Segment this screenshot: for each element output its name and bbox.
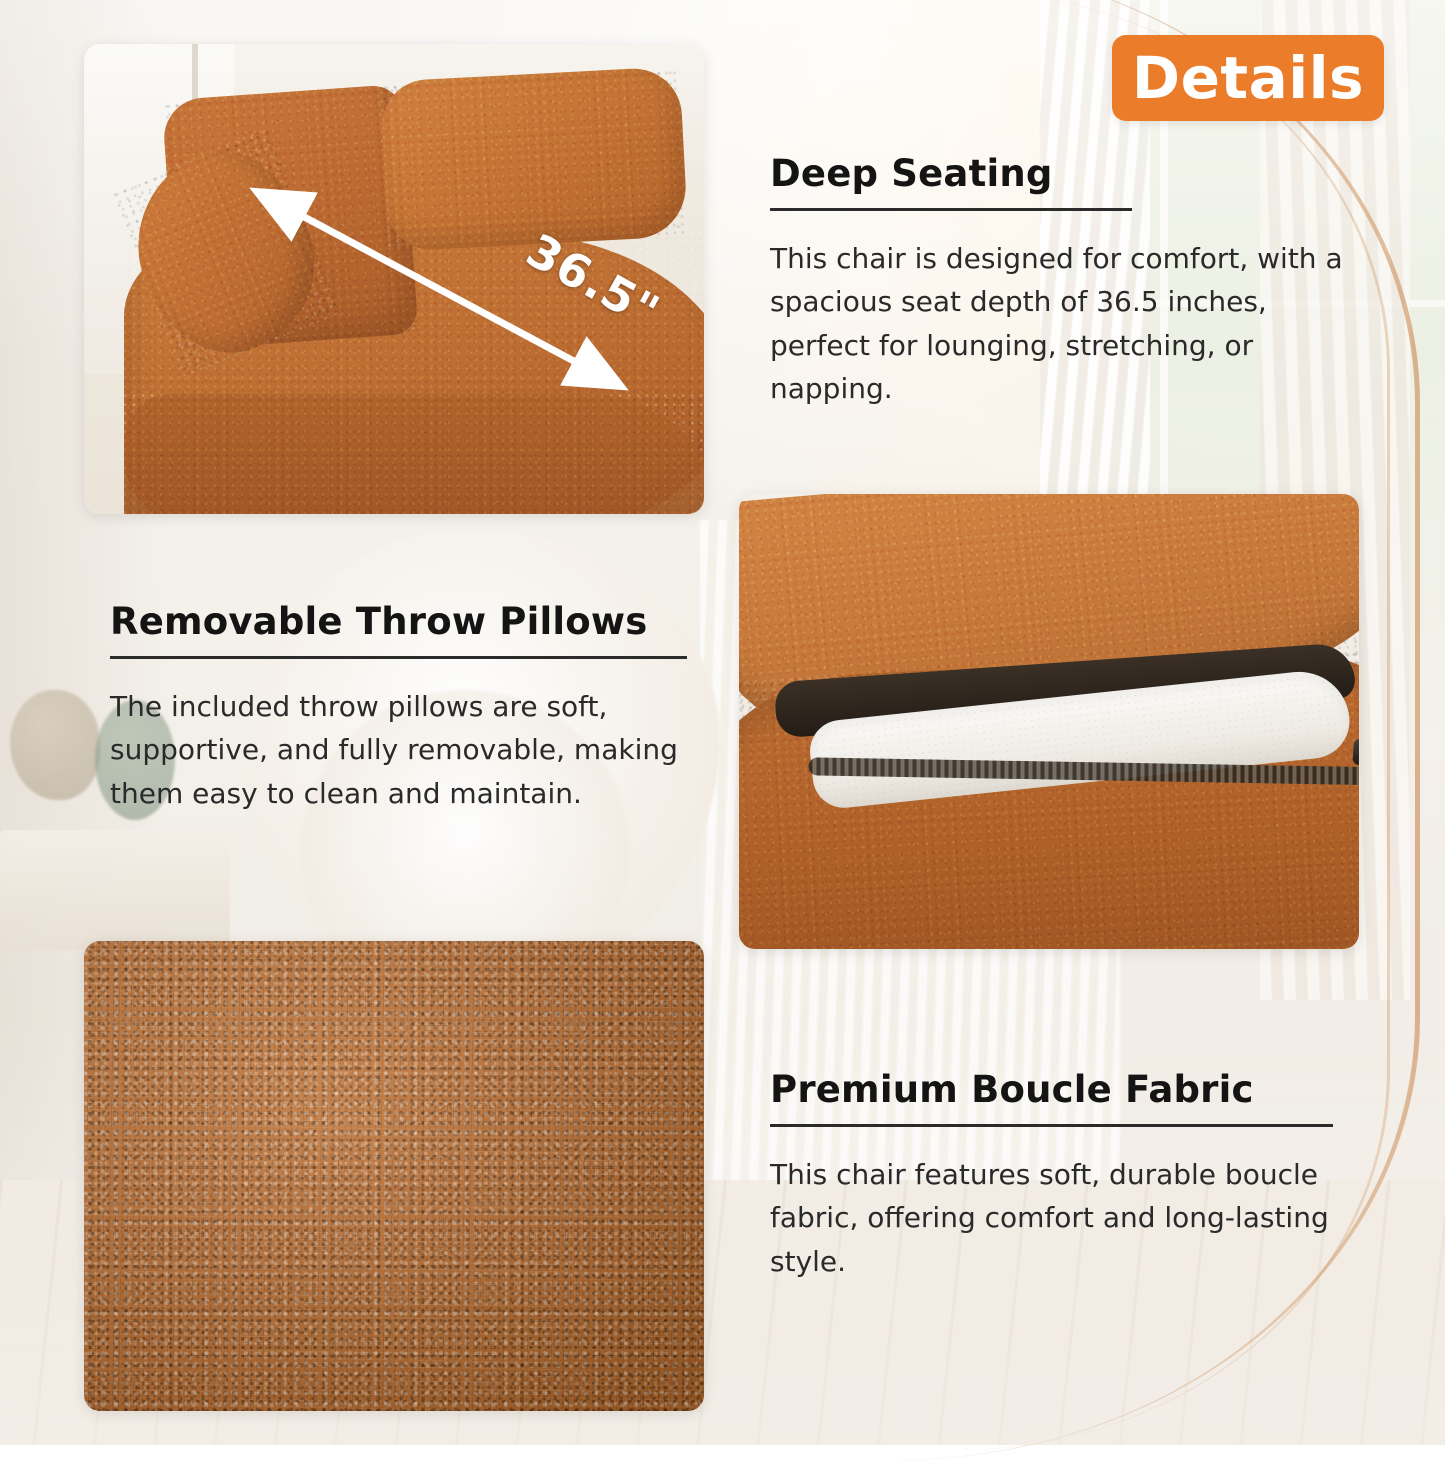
boucle-texture	[124, 394, 704, 514]
section-removable-throw-pillows: Removable Throw Pillows The included thr…	[110, 600, 710, 815]
section-title-premium-boucle-fabric: Premium Boucle Fabric	[770, 1068, 1348, 1111]
section-premium-boucle-fabric: Premium Boucle Fabric This chair feature…	[770, 1068, 1348, 1283]
section-title-removable-throw-pillows: Removable Throw Pillows	[110, 600, 710, 643]
section-title-deep-seating: Deep Seating	[770, 152, 1360, 195]
zipper-photo	[739, 494, 1359, 949]
image-card-zipper	[739, 494, 1359, 949]
section-body-premium-boucle-fabric: This chair features soft, durable boucle…	[770, 1153, 1348, 1283]
title-underline	[110, 656, 687, 659]
boucle-texture	[380, 66, 688, 251]
chair-seat-front-edge	[124, 394, 704, 514]
image-card-fabric	[84, 941, 704, 1411]
image-card-deep-seating: 36.5"	[84, 44, 704, 514]
background-decor-object	[10, 690, 100, 800]
title-underline	[770, 208, 1132, 211]
fabric-photo	[84, 941, 704, 1411]
section-body-removable-throw-pillows: The included throw pillows are soft, sup…	[110, 685, 710, 815]
section-body-deep-seating: This chair is designed for comfort, with…	[770, 237, 1360, 411]
fabric-lighting-overlay	[84, 941, 704, 1411]
background-side-table	[0, 830, 230, 950]
details-badge: Details	[1112, 35, 1384, 121]
details-badge-label: Details	[1132, 49, 1364, 107]
section-deep-seating: Deep Seating This chair is designed for …	[770, 152, 1360, 411]
title-underline	[770, 1124, 1333, 1127]
zipper-pull-tab	[1352, 738, 1359, 767]
chair-back-cushion	[380, 66, 688, 251]
chair-photo: 36.5"	[84, 44, 704, 514]
